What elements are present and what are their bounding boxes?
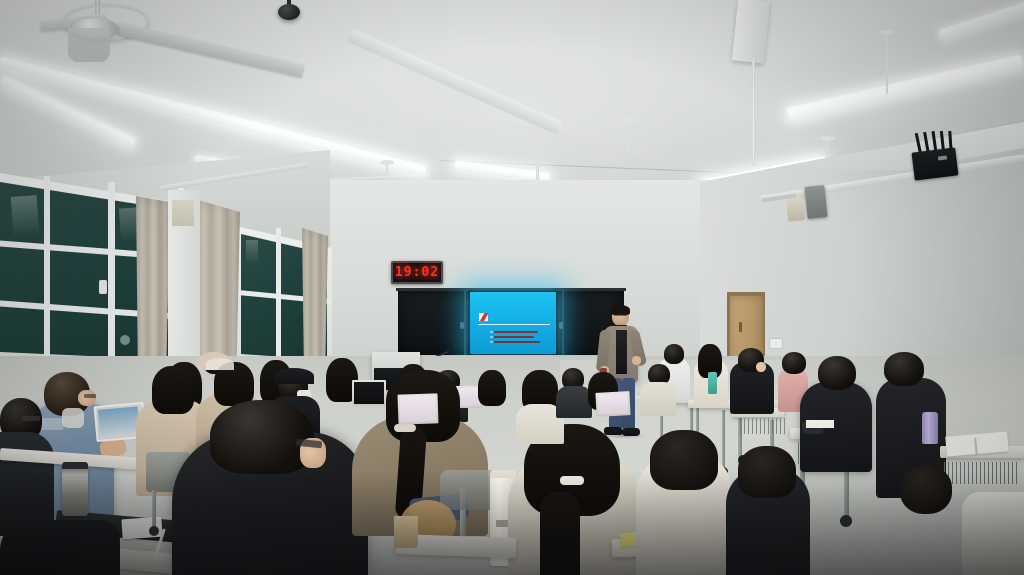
paper-sheet — [806, 420, 834, 428]
board-slide-handle[interactable] — [559, 322, 563, 329]
student-hair — [478, 370, 506, 406]
drop-rod — [627, 122, 629, 154]
drop-rod — [752, 58, 755, 166]
window-handle[interactable] — [99, 280, 107, 294]
slide-bullet — [490, 336, 493, 338]
slide-bullet — [490, 331, 493, 333]
wall-digital-clock: 19:02 — [391, 261, 443, 284]
student-head-foreground — [210, 400, 314, 474]
slide-logo — [479, 313, 488, 321]
student-head — [782, 352, 806, 374]
thermos-lid — [62, 462, 88, 469]
slide-text-line — [494, 336, 534, 338]
wall-speaker — [786, 197, 805, 222]
lecturer-shirt — [616, 330, 627, 374]
window-mullion — [44, 176, 50, 374]
light-switch-panel[interactable] — [769, 338, 783, 349]
denim-collar — [40, 418, 64, 430]
window-glint — [11, 195, 40, 237]
wall-wifi-access-point — [911, 147, 958, 180]
window-glint — [119, 207, 139, 242]
foreground-shading — [0, 470, 1024, 575]
laptop-screen — [354, 382, 384, 404]
classroom-photo: 19:02 — [0, 0, 1024, 575]
glasses-icon — [22, 416, 40, 421]
glasses-icon — [614, 313, 627, 316]
laptop-screen — [597, 393, 628, 415]
student-head — [818, 356, 856, 390]
window-light-dot — [120, 335, 130, 345]
hair-tie — [394, 424, 416, 432]
student-face — [78, 390, 96, 406]
ceiling-dome-camera — [278, 4, 300, 20]
chair-basket — [740, 418, 786, 434]
student-head — [884, 352, 924, 386]
wall-vent — [172, 200, 194, 226]
student-body — [556, 386, 592, 418]
window-mullion — [276, 228, 281, 374]
lecturer-hand-right — [632, 356, 641, 365]
clock-time: 19:02 — [395, 265, 439, 280]
scarf — [62, 408, 84, 428]
board-slide-handle[interactable] — [460, 322, 464, 329]
slide-rule — [478, 324, 550, 325]
glasses-icon — [84, 394, 96, 398]
cap-icon — [274, 368, 314, 384]
slide-text-line — [494, 341, 540, 343]
board-top-edge — [396, 288, 626, 291]
fan-motor — [68, 28, 110, 62]
student-hair — [152, 366, 194, 414]
student-body — [640, 382, 676, 416]
ceiling-duct — [732, 0, 770, 64]
student-hand — [756, 362, 766, 372]
board-panel-divider — [464, 291, 466, 355]
slide-bullet — [490, 341, 493, 343]
slide-text-line — [494, 331, 538, 333]
chair-leg — [722, 410, 725, 470]
laptop-screen — [400, 395, 437, 422]
window-mullion — [108, 182, 115, 378]
projection-screen — [470, 292, 556, 354]
hair-band — [206, 358, 234, 370]
water-bottle — [922, 412, 938, 444]
wall-speaker — [804, 185, 827, 219]
door-handle[interactable] — [739, 322, 742, 332]
water-bottle — [708, 372, 717, 394]
drop-rod — [886, 34, 888, 94]
student-head — [664, 344, 684, 364]
window-glint — [246, 240, 258, 264]
